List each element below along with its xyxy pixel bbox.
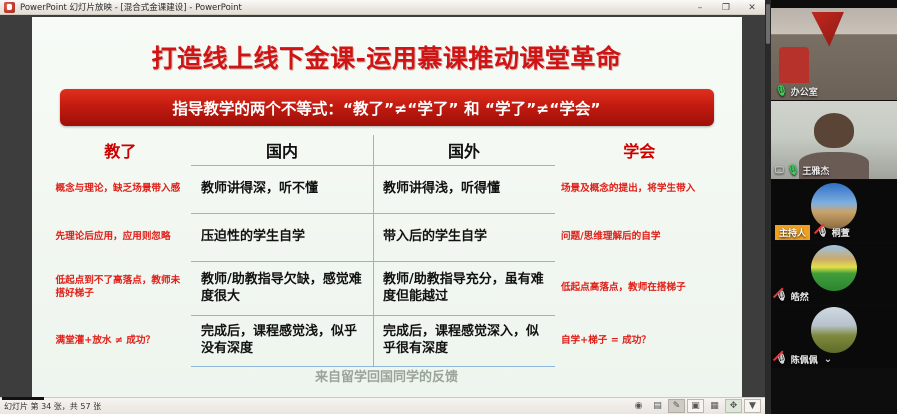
scrollbar-thumb[interactable] <box>766 4 770 44</box>
table-row: 低起点到不了高落点，教师未搭好梯子 教师/助教指导欠缺，感觉难度很大 教师/助教… <box>50 261 724 315</box>
cell-learned-3: 低起点高落点，教师在搭梯子 <box>555 261 724 315</box>
status-bar: 幻灯片 第 34 张，共 57 张 ◉ ▤ ✎ ▣ ▦ ✥ ▼ <box>0 397 765 414</box>
avatar-image <box>811 307 857 353</box>
participant-tile-wangyajie[interactable]: 🖵 🎙 王雅杰 <box>771 101 897 179</box>
cell-learned-1: 场景及概念的提出，将学生带入 <box>555 165 724 213</box>
participant-name: 桐萱 <box>832 226 850 239</box>
more-options-icon[interactable]: ▼ <box>744 399 761 413</box>
cell-domestic-3: 教师/助教指导欠缺，感觉难度很大 <box>191 261 373 315</box>
screen-share-icon: 🖵 <box>775 166 784 176</box>
table-row: 先理论后应用，应用则忽略 压迫性的学生自学 带入后的学生自学 问题/思维理解后的… <box>50 213 724 261</box>
participant-tile-tongxuan[interactable]: 主持人 🎙 桐萱 <box>771 180 897 242</box>
microphone-muted-icon: 🎙 <box>816 227 829 238</box>
zoom-slide-icon[interactable]: ✥ <box>725 399 742 413</box>
microphone-icon: 🎙 <box>787 165 800 176</box>
cell-taught-1: 概念与理论，缺乏场景带入感 <box>50 165 192 213</box>
cell-taught-2: 先理论后应用，应用则忽略 <box>50 213 192 261</box>
participant-name-row: 🎙 办公室 <box>771 83 822 100</box>
cell-domestic-4: 完成后，课程感觉浅，似乎没有深度 <box>191 315 373 367</box>
slide-content: 打造线上线下金课-运用慕课推动课堂革命 指导教学的两个不等式：“教了”≠“学了”… <box>32 17 742 397</box>
cell-overseas-4: 完成后，课程感觉深入，似乎很有深度 <box>373 315 555 367</box>
table-row: 满堂灌+放水 ≠ 成功？ 完成后，课程感觉浅，似乎没有深度 完成后，课程感觉深入… <box>50 315 724 367</box>
cell-learned-4: 自学+梯子 = 成功？ <box>555 315 724 367</box>
participant-tile-chenpeipei[interactable]: 🎙 陈佩佩 ⌄ <box>771 306 897 368</box>
restore-button[interactable]: ❐ <box>713 0 739 16</box>
slide-footer-note: 来自留学回国同学的反馈 <box>32 366 742 385</box>
column-header-taught: 教了 <box>50 138 192 162</box>
window-controls: – ❐ ✕ <box>687 0 765 16</box>
powerpoint-icon <box>4 2 15 13</box>
slideshow-toolbar: ◉ ▤ ✎ ▣ ▦ ✥ ▼ <box>630 399 761 413</box>
cell-overseas-3: 教师/助教指导充分，虽有难度但能越过 <box>373 261 555 315</box>
participant-tile-office[interactable]: 🎙 办公室 <box>771 8 897 100</box>
slideshow-canvas: 打造线上线下金课-运用慕课推动课堂革命 指导教学的两个不等式：“教了”≠“学了”… <box>0 15 765 397</box>
avatar <box>811 307 857 353</box>
microphone-icon: 🎙 <box>775 86 788 97</box>
close-button[interactable]: ✕ <box>739 0 765 16</box>
cell-overseas-1: 教师讲得浅，听得懂 <box>373 165 555 213</box>
inequality-banner: 指导教学的两个不等式：“教了”≠“学了” 和 “学了”≠“学会” <box>60 89 714 126</box>
microphone-muted-icon: 🎙 <box>775 354 788 365</box>
participant-name: 陈佩佩 <box>791 353 818 366</box>
slide-counter: 幻灯片 第 34 张，共 57 张 <box>4 401 101 412</box>
host-badge: 主持人 <box>775 225 810 240</box>
powerpoint-window: PowerPoint 幻灯片放映 - [混合式金课建设] - PowerPoin… <box>0 0 765 414</box>
taskbar-strip <box>2 397 44 400</box>
slide-title: 打造线上线下金课-运用慕课推动课堂革命 <box>32 39 742 75</box>
pen-cursor-icon[interactable]: ✎ <box>668 399 685 413</box>
participant-name: 王雅杰 <box>802 164 829 177</box>
table-body: 概念与理论，缺乏场景带入感 教师讲得深，听不懂 教师讲得浅，听得懂 场景及概念的… <box>50 165 724 367</box>
table-header-row: 教了 国内 国外 学会 <box>50 135 724 165</box>
window-titlebar: PowerPoint 幻灯片放映 - [混合式金课建设] - PowerPoin… <box>0 0 765 15</box>
participant-name-row: 🎙 陈佩佩 ⌄ <box>771 351 836 368</box>
cell-overseas-2: 带入后的学生自学 <box>373 213 555 261</box>
table-row: 概念与理论，缺乏场景带入感 教师讲得深，听不懂 教师讲得浅，听得懂 场景及概念的… <box>50 165 724 213</box>
avatar-image <box>811 245 857 291</box>
cell-taught-4: 满堂灌+放水 ≠ 成功？ <box>50 315 192 367</box>
participant-name-row: 🎙 皓然 <box>771 288 813 305</box>
chevron-down-icon[interactable]: ⌄ <box>824 354 832 365</box>
pointer-options-icon[interactable]: ◉ <box>630 399 647 413</box>
screen-root: PowerPoint 幻灯片放映 - [混合式金课建设] - PowerPoin… <box>0 0 897 414</box>
column-header-overseas: 国外 <box>373 138 555 162</box>
participant-name-row: 🖵 🎙 王雅杰 <box>771 162 833 179</box>
presenter-view-icon[interactable]: ▣ <box>687 399 704 413</box>
participant-name: 办公室 <box>791 85 818 98</box>
window-title: PowerPoint 幻灯片放映 - [混合式金课建设] - PowerPoin… <box>20 1 242 13</box>
participant-name: 皓然 <box>791 290 809 303</box>
minimize-button[interactable]: – <box>687 0 713 16</box>
participant-tile-haoran[interactable]: 🎙 皓然 <box>771 243 897 305</box>
avatar <box>811 245 857 291</box>
all-slides-icon[interactable]: ▦ <box>706 399 723 413</box>
cell-domestic-2: 压迫性的学生自学 <box>191 213 373 261</box>
cell-domestic-1: 教师讲得深，听不懂 <box>191 165 373 213</box>
microphone-muted-icon: 🎙 <box>775 291 788 302</box>
slide-view-icon[interactable]: ▤ <box>649 399 666 413</box>
video-participants-panel: 🎙 办公室 🖵 🎙 王雅杰 主持人 🎙 桐萱 <box>765 0 897 414</box>
column-header-learned: 学会 <box>555 138 724 162</box>
column-header-domestic: 国内 <box>191 138 373 162</box>
comparison-table: 教了 国内 国外 学会 概念与理论，缺乏场景带入感 教师讲得深，听不懂 教师讲得… <box>50 135 724 375</box>
column-divider <box>373 135 374 367</box>
cell-learned-2: 问题/思维理解后的自学 <box>555 213 724 261</box>
participant-name-row: 主持人 🎙 桐萱 <box>771 223 854 242</box>
cell-taught-3: 低起点到不了高落点，教师未搭好梯子 <box>50 261 192 315</box>
